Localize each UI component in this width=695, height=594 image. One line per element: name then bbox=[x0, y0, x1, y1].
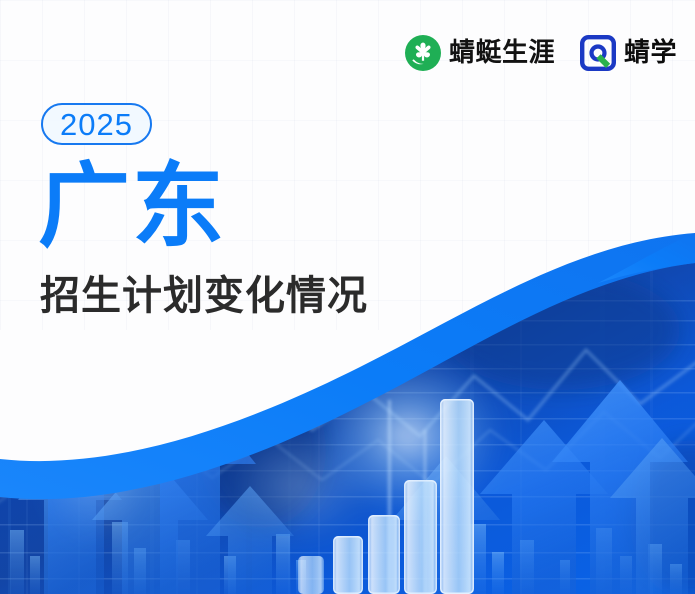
brand-logo-row: 蜻蜓生涯 蜻学 bbox=[404, 34, 677, 72]
logo-qingxue[interactable]: 蜻学 bbox=[579, 34, 677, 72]
report-cover: 蜻蜓生涯 蜻学 2025 广东 招生计划变化情况 bbox=[0, 0, 695, 594]
year-badge-label: 2025 bbox=[60, 109, 133, 140]
rising-arrow-group-left bbox=[16, 382, 294, 594]
page-title: 广东 bbox=[38, 163, 226, 251]
year-badge: 2025 bbox=[41, 103, 152, 145]
blue-q-square-icon bbox=[579, 34, 617, 72]
green-circle-dragonfly-icon bbox=[404, 34, 442, 72]
page-subtitle: 招生计划变化情况 bbox=[40, 274, 368, 318]
rising-arrow-group-right bbox=[392, 380, 695, 594]
logo-qingxue-label: 蜻学 bbox=[624, 40, 677, 66]
logo-qingting-shengya[interactable]: 蜻蜓生涯 bbox=[404, 34, 555, 72]
glass-bar-chart bbox=[298, 399, 474, 594]
logo-qingting-shengya-label: 蜻蜓生涯 bbox=[449, 40, 555, 66]
